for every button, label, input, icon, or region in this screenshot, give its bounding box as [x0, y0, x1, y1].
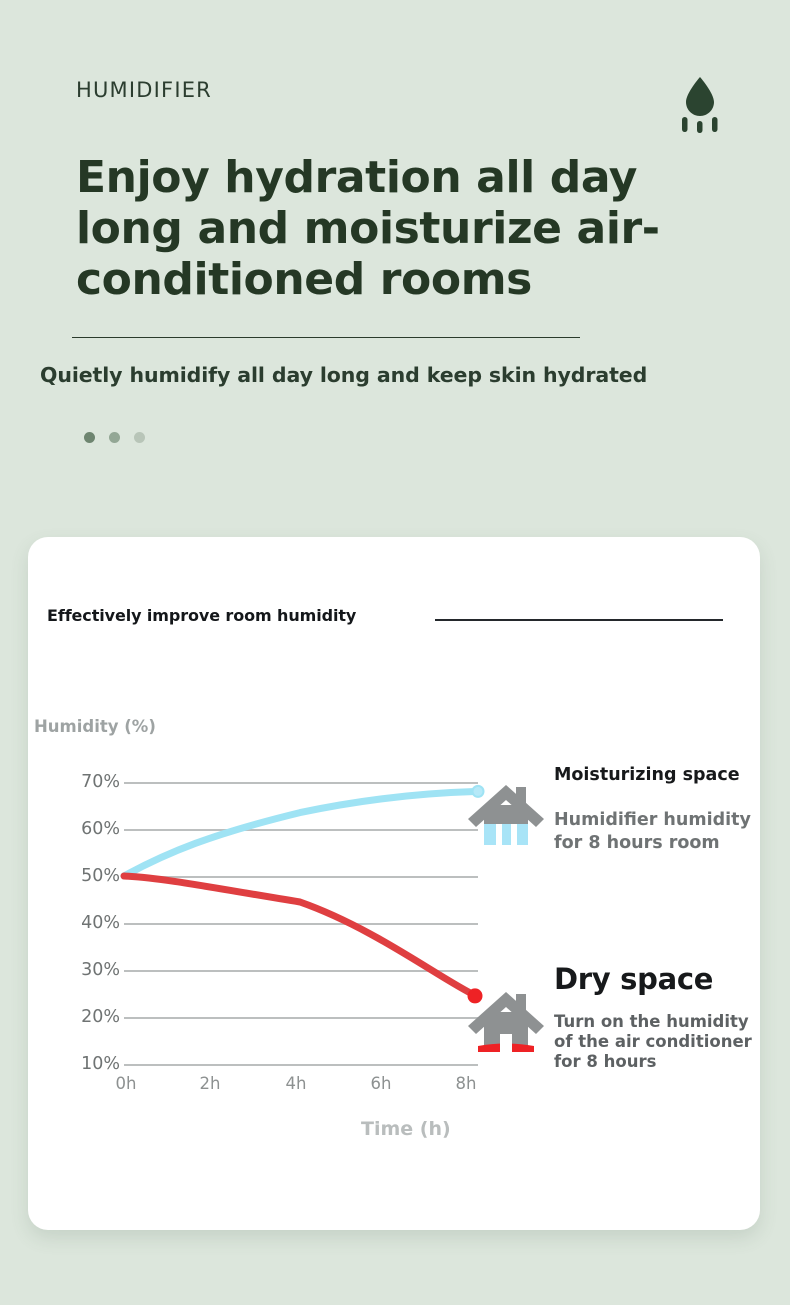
legend-subtitle-line: of the air conditioner	[554, 1032, 752, 1052]
legend-subtitle: Humidifier humidity for 8 hours room	[554, 809, 751, 855]
series-dry-line	[124, 876, 476, 996]
hero-section: HUMIDIFIER Enjoy hydration all day long …	[0, 0, 790, 537]
x-tick-label: 6h	[359, 1074, 403, 1093]
y-tick-label: 30%	[50, 960, 120, 980]
series-curves	[124, 782, 478, 1064]
legend-subtitle: Turn on the humidity of the air conditio…	[554, 1012, 752, 1072]
humidity-line-chart: Humidity (%) Time (h) 70% 60% 50% 40% 30…	[28, 537, 498, 1230]
eyebrow-label: HUMIDIFIER	[76, 78, 212, 102]
carousel-dot-3[interactable]	[134, 432, 145, 443]
y-tick-label: 40%	[50, 913, 120, 933]
legend-title: Moisturizing space	[554, 765, 740, 785]
hero-divider	[72, 337, 580, 338]
x-axis-label: Time (h)	[361, 1118, 451, 1140]
page-title: Enjoy hydration all day long and moistur…	[76, 152, 696, 305]
y-tick-label: 60%	[50, 819, 120, 839]
x-tick-label: 2h	[188, 1074, 232, 1093]
hero-subtitle: Quietly humidify all day long and keep s…	[40, 363, 647, 387]
y-tick-label: 70%	[50, 772, 120, 792]
gridline	[124, 1064, 478, 1066]
carousel-dot-2[interactable]	[109, 432, 120, 443]
water-droplet-mist-icon	[676, 73, 724, 133]
legend-subtitle-line: Turn on the humidity	[554, 1012, 752, 1032]
legend-subtitle-line: Humidifier humidity	[554, 809, 751, 832]
y-tick-label: 10%	[50, 1054, 120, 1074]
legend-title: Dry space	[554, 962, 713, 996]
carousel-dot-1[interactable]	[84, 432, 95, 443]
plot-area: 70% 60% 50% 40% 30% 20% 10% 0h	[124, 782, 478, 1064]
x-tick-label: 8h	[444, 1074, 488, 1093]
x-tick-label: 0h	[104, 1074, 148, 1093]
legend-subtitle-line: for 8 hours	[554, 1052, 752, 1072]
y-tick-label: 50%	[50, 866, 120, 886]
carousel-dots[interactable]	[84, 432, 145, 443]
series-moisturizing-line	[124, 791, 478, 876]
house-dry-icon	[466, 984, 546, 1064]
y-tick-label: 20%	[50, 1007, 120, 1027]
y-axis-label: Humidity (%)	[34, 717, 156, 736]
chart-card: Effectively improve room humidity Humidi…	[28, 537, 760, 1230]
house-humid-icon	[466, 777, 546, 857]
legend-subtitle-line: for 8 hours room	[554, 832, 751, 855]
x-tick-label: 4h	[274, 1074, 318, 1093]
